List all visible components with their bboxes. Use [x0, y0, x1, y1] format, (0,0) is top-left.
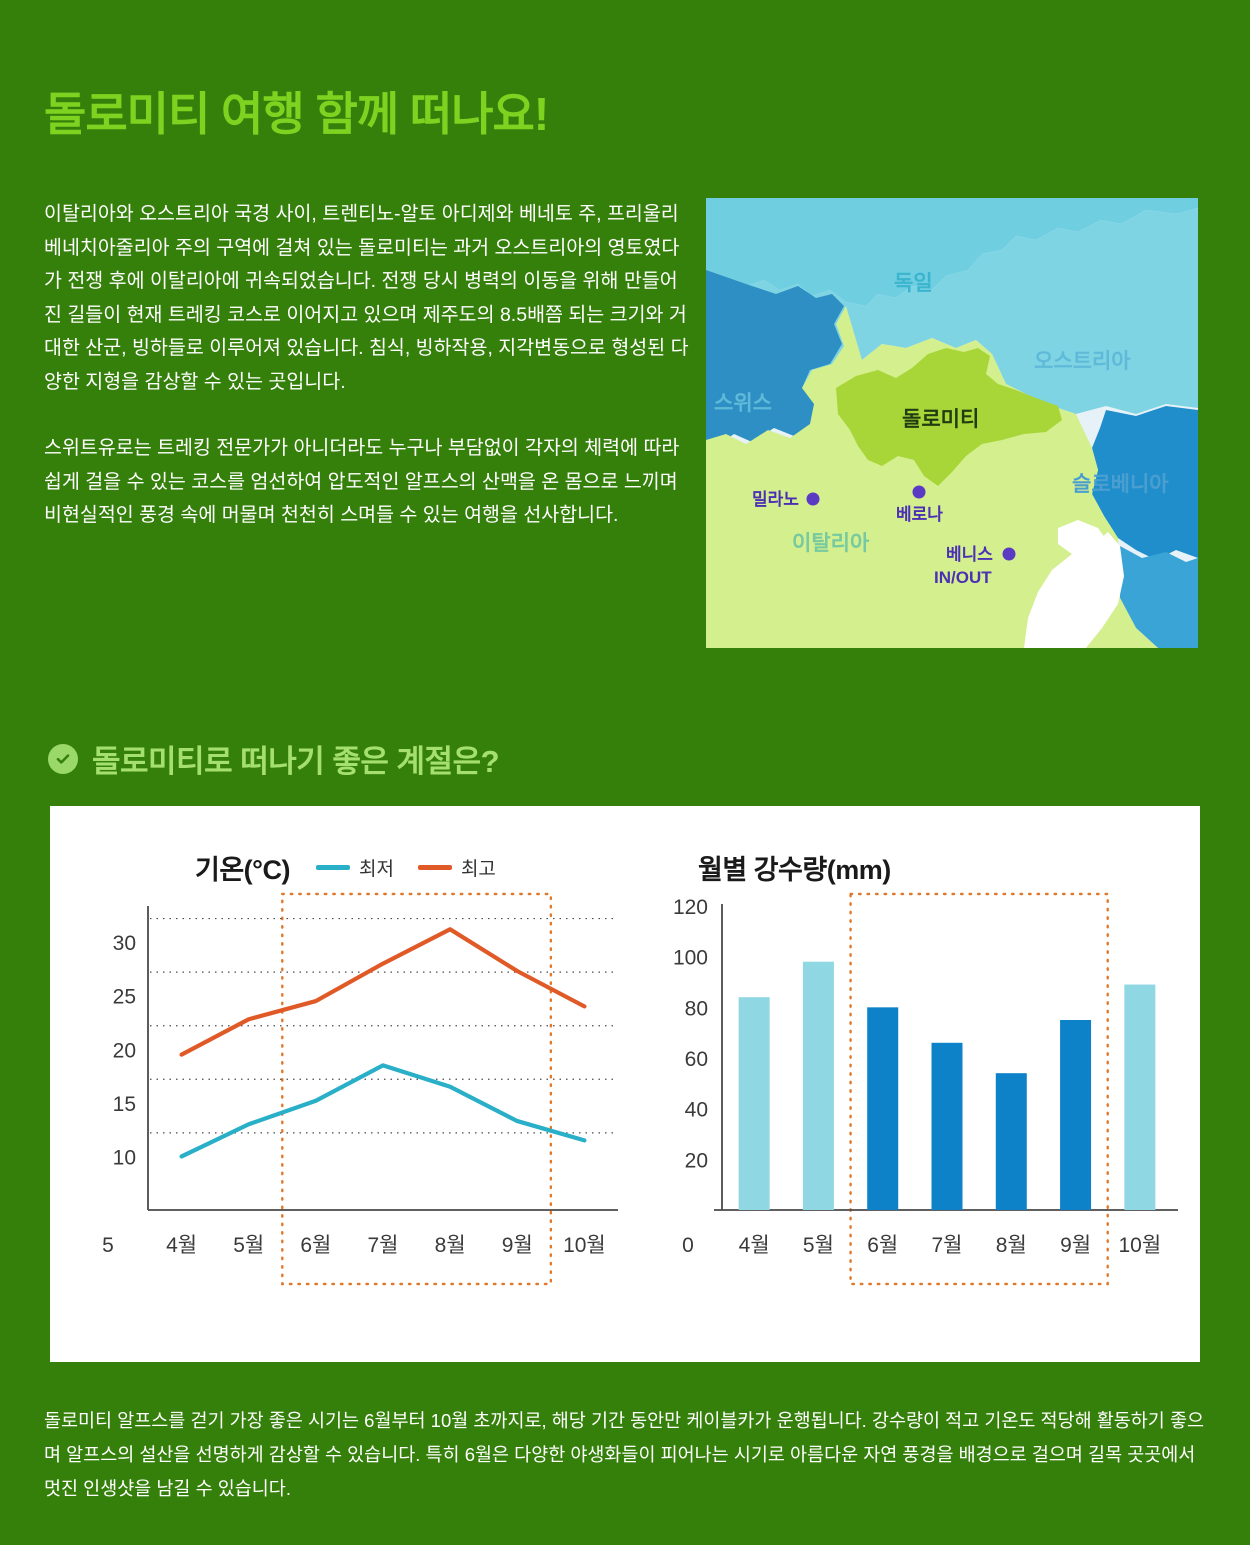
x-tick-label: 8월 — [435, 1234, 466, 1257]
intro-paragraph-1: 이탈리아와 오스트리아 국경 사이, 트렌티노-알토 아디제와 베네토 주, 프… — [44, 198, 694, 399]
x-tick-label: 5월 — [233, 1234, 264, 1257]
europe-map: 독일 오스트리아 스위스 슬로베니아 이탈리아 돌로미티 밀라노 베로나 베니스… — [706, 198, 1198, 648]
map-label-slovenia: 슬로베니아 — [1072, 473, 1169, 496]
y-tick-label: 20 — [113, 1039, 136, 1062]
x-tick-label: 10월 — [563, 1234, 606, 1257]
bar-5월 — [803, 962, 834, 1210]
precipitation-chart-title: 월별 강수량(mm) — [698, 848, 891, 887]
x-tick-label: 9월 — [502, 1234, 533, 1257]
intro-text-block: 이탈리아와 오스트리아 국경 사이, 트렌티노-알토 아디제와 베네토 주, 프… — [44, 198, 694, 533]
bar-7월 — [932, 1043, 963, 1210]
bar-9월 — [1060, 1020, 1091, 1210]
y-tick-label: 100 — [673, 947, 708, 970]
x-tick-label: 4월 — [739, 1234, 770, 1257]
intro-paragraph-2: 스위트유로는 트레킹 전문가가 아니더라도 누구나 부담없이 각자의 체력에 따… — [44, 432, 694, 533]
y-tick-label: 40 — [685, 1099, 708, 1122]
map-label-venice: 베니스 — [946, 545, 993, 564]
infographic-page: 돌로미티 여행 함께 떠나요! 이탈리아와 오스트리아 국경 사이, 트렌티노-… — [0, 0, 1250, 1545]
x-tick-label: 7월 — [932, 1234, 963, 1257]
y-tick-label: 60 — [685, 1048, 708, 1071]
x-tick-label: 5월 — [803, 1234, 834, 1257]
y-tick-label: 25 — [113, 986, 136, 1009]
check-circle-icon — [48, 744, 78, 774]
x-tick-label: 6월 — [867, 1234, 898, 1257]
map-label-germany: 독일 — [894, 272, 933, 295]
page-title: 돌로미티 여행 함께 떠나요! — [44, 78, 548, 144]
map-label-italy: 이탈리아 — [792, 532, 870, 555]
highlight-range-box — [282, 894, 551, 1284]
x-tick-label: 6월 — [300, 1234, 331, 1257]
precipitation-chart: 월별 강수량(mm) 2040608010012004월5월6월7월8월9월10… — [650, 806, 1190, 1362]
section-heading-text: 돌로미티로 떠나기 좋은 계절은? — [92, 736, 499, 781]
legend-swatch-max — [418, 865, 452, 870]
legend-label-min: 최저 — [359, 854, 394, 881]
charts-card: 기온(°C) 최저 최고 101520253054월5월6월7월8월9월10월 — [50, 806, 1200, 1362]
x-tick-label: 7월 — [368, 1234, 399, 1257]
y-tick-label: 20 — [685, 1149, 708, 1172]
footer-caption: 돌로미티 알프스를 걷기 가장 좋은 시기는 6월부터 10월 초까지로, 해당… — [44, 1404, 1214, 1506]
y-tick-label: 30 — [113, 932, 136, 955]
legend-item-max: 최고 — [418, 854, 496, 881]
x-tick-label: 9월 — [1060, 1234, 1091, 1257]
map-label-austria: 오스트리아 — [1034, 350, 1131, 373]
legend-label-max: 최고 — [461, 854, 496, 881]
y-tick-label: 80 — [685, 997, 708, 1020]
temperature-chart: 기온(°C) 최저 최고 101520253054월5월6월7월8월9월10월 — [90, 806, 630, 1362]
line-series-최고 — [182, 929, 585, 1054]
legend-item-min: 최저 — [316, 854, 394, 881]
map-marker-verona — [913, 486, 926, 499]
y-tick-label: 15 — [113, 1093, 136, 1116]
precipitation-chart-header: 월별 강수량(mm) — [698, 848, 891, 887]
y-axis-origin-label: 0 — [682, 1234, 694, 1257]
y-tick-label: 120 — [673, 896, 708, 919]
x-tick-label: 10월 — [1119, 1234, 1162, 1257]
precipitation-plot-area: 2040608010012004월5월6월7월8월9월10월 — [650, 892, 1190, 1312]
bar-4월 — [739, 997, 770, 1210]
section-heading: 돌로미티로 떠나기 좋은 계절은? — [48, 736, 499, 781]
x-tick-label: 4월 — [166, 1234, 197, 1257]
map-marker-venice — [1003, 548, 1016, 561]
legend-swatch-min — [316, 865, 350, 870]
map-label-venice-inout: IN/OUT — [934, 568, 992, 587]
map-label-dolomites: 돌로미티 — [902, 408, 979, 431]
map-label-verona: 베로나 — [896, 505, 943, 524]
y-tick-label: 10 — [113, 1146, 136, 1169]
temperature-chart-header: 기온(°C) 최저 최고 — [195, 848, 496, 887]
bar-8월 — [996, 1073, 1027, 1210]
bar-10월 — [1124, 985, 1155, 1210]
x-tick-label: 8월 — [996, 1234, 1027, 1257]
temperature-plot-area: 101520253054월5월6월7월8월9월10월 — [90, 892, 630, 1312]
map-label-switzerland: 스위스 — [714, 392, 772, 415]
y-axis-origin-label: 5 — [102, 1234, 114, 1257]
map-label-milano: 밀라노 — [752, 489, 799, 509]
temperature-legend: 최저 최고 — [316, 854, 496, 881]
temperature-chart-title: 기온(°C) — [195, 848, 290, 887]
bar-6월 — [867, 1007, 898, 1210]
map-marker-milano — [807, 493, 820, 506]
